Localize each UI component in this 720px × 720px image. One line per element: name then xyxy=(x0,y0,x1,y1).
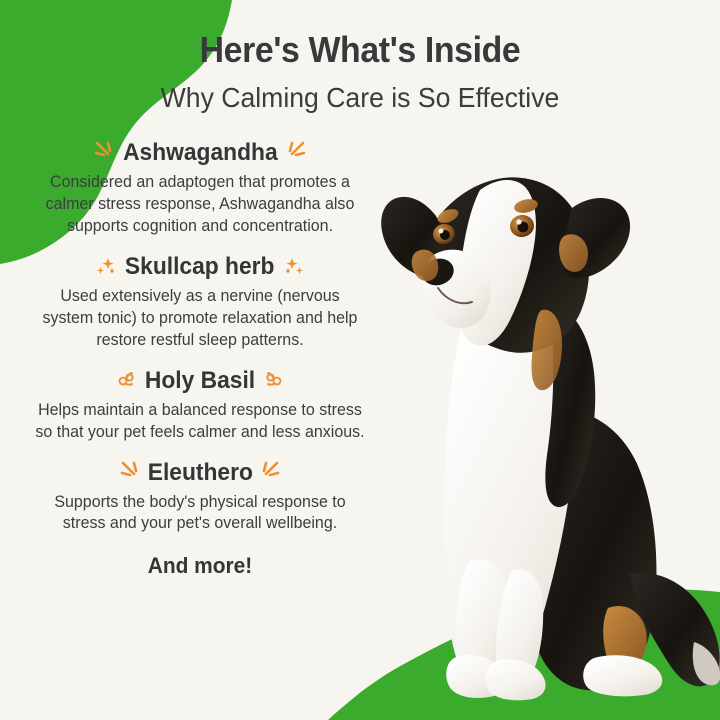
promo-poster: Here's What's Inside Why Calming Care is… xyxy=(0,0,720,720)
ingredient-heading-row: Skullcap herb xyxy=(0,252,400,282)
burst-spark-icon xyxy=(259,460,281,486)
page-title: Here's What's Inside xyxy=(22,30,699,70)
burst-spark-icon xyxy=(285,140,307,166)
ingredient-heading-row: Eleuthero xyxy=(0,458,400,488)
ingredient-list: Ashwagandha Considered an adaptogen that… xyxy=(0,138,400,579)
dog-eye-highlight-left xyxy=(439,229,444,234)
ingredient-item-eleuthero: Eleuthero Supports the body's physical r… xyxy=(0,458,400,536)
ingredient-item-ashwagandha: Ashwagandha Considered an adaptogen that… xyxy=(0,138,400,238)
dog-illustration xyxy=(372,160,720,705)
ingredient-description: Considered an adaptogen that promotes a … xyxy=(35,172,365,238)
ingredient-description: Supports the body's physical response to… xyxy=(35,492,365,536)
ingredient-name: Ashwagandha xyxy=(123,141,278,165)
dog-front-paw-right xyxy=(485,659,545,700)
ingredient-name: Skullcap herb xyxy=(125,255,275,279)
header-block: Here's What's Inside Why Calming Care is… xyxy=(0,30,720,114)
ingredient-heading-row: Ashwagandha xyxy=(0,138,400,168)
burst-spark-icon xyxy=(93,140,115,166)
ingredient-description: Helps maintain a balanced response to st… xyxy=(35,400,365,444)
ingredient-name: Eleuthero xyxy=(147,461,252,485)
ingredient-name: Holy Basil xyxy=(145,369,255,393)
page-subtitle: Why Calming Care is So Effective xyxy=(18,82,702,114)
ingredient-item-skullcap-herb: Skullcap herb Used extensively as a nerv… xyxy=(0,252,400,352)
and-more-label: And more! xyxy=(10,553,390,579)
four-point-sparkle-icon xyxy=(95,254,117,280)
burst-spark-icon xyxy=(119,460,141,486)
ingredient-heading-row: Holy Basil xyxy=(0,366,400,396)
swirl-flourish-icon xyxy=(116,368,138,394)
dog-eye-highlight-right xyxy=(516,219,521,224)
dog-rear-paw xyxy=(583,655,662,696)
ingredient-description: Used extensively as a nervine (nervous s… xyxy=(35,286,365,352)
four-point-sparkle-icon xyxy=(283,254,305,280)
dog-photo xyxy=(372,160,720,705)
ingredient-item-holy-basil: Holy Basil Helps maintain a balanced res… xyxy=(0,366,400,444)
swirl-flourish-icon xyxy=(262,368,284,394)
